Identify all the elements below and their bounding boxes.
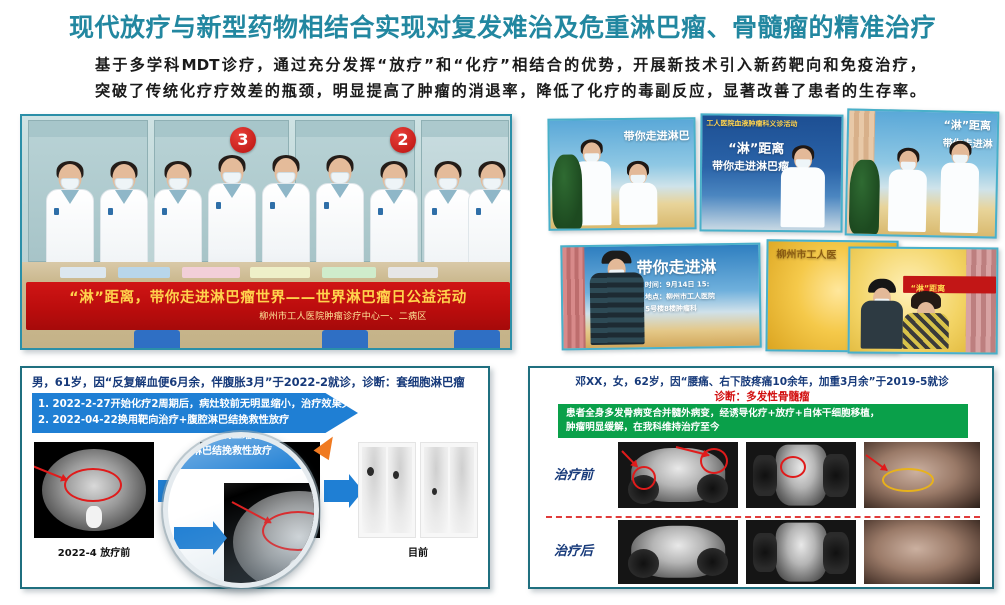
mri-spine-after [746,520,856,584]
patient-signing [902,294,950,352]
case-panel-myeloma: 邓XX，女，62岁，因“腰痛、右下肢疼痛10余年，加重3月余”于2019-5就诊… [528,366,994,589]
photo-backdrop-text: 带你走进淋 [636,253,716,278]
photo-backdrop-header: 工人医院血液肿瘤科义诊活动 [706,118,797,129]
before-after-divider [546,516,980,518]
magnifier-lens: 病灶较前无明显缩小，治疗效 腹腔淋巴结挽救性放疗 2022-6 放疗后 [163,432,319,588]
treatment-step-2: 2. 2022-04-22换用靶向治疗+腹腔淋巴结挽救性放疗 [38,413,358,429]
page-title: 现代放疗与新型药物相结合实现对复发难治及危重淋巴瘤、骨髓瘤的精准治疗 [0,8,1005,44]
case-right-header: 邓XX，女，62岁，因“腰痛、右下肢疼痛10余年，加重3月余”于2019-5就诊 [544,374,980,389]
desk-item [182,267,240,278]
ct-image-before [34,442,154,538]
photo-info-place: 地点：柳州市工人医院 [645,291,715,302]
mri-spine-before [746,442,856,508]
case-left-treatment-steps: 1. 2022-2-27开始化疗2周期后，病灶较前无明显缩小，治疗效果欠佳 2.… [32,393,358,433]
desk-item [322,267,376,278]
patient-signing [860,282,904,352]
label-before-treatment: 治疗前 [554,464,593,483]
photo-info-time: 时间：9月14日 15: [645,279,710,290]
magnified-step-2: 腹腔淋巴结挽救性放疗 [172,444,319,460]
pet-scan-image [420,442,478,538]
stool [454,330,500,348]
magnified-transition-arrow [174,527,214,549]
mri-abdomen-after [864,520,980,584]
desk-item [60,267,106,278]
group-photo: 3 2 “淋”距离，带你走进淋巴瘤世界——世界淋巴瘤日公益活动 柳州市工人医院肿… [20,114,512,350]
caption-now: 目前 [358,544,478,559]
photo-backdrop-text: “淋”距离 [728,138,784,157]
mri-pelvis-before [618,442,738,508]
lesion-marker-highlight [882,468,934,492]
magnified-content: 病灶较前无明显缩小，治疗效 腹腔淋巴结挽救性放疗 2022-6 放疗后 [163,432,319,588]
activity-photo-nurse-examining-patient: 带你走进淋巴 [547,117,696,231]
magnified-ct-image [224,483,319,588]
case-right-summary: 患者全身多发骨病变合并髓外病变，经诱导化疗+放疗+自体干细胞移植， 肿瘤明显缓解… [558,404,968,438]
case-right-diagnosis: 诊断：多发性骨髓瘤 [544,389,980,404]
desk-item [388,267,438,278]
summary-line-1: 患者全身多发骨病变合并髓外病变，经诱导化疗+放疗+自体干细胞移植， [566,407,968,421]
potted-plant [552,154,583,228]
desk-item [118,267,170,278]
mri-pelvis-after [618,520,738,584]
caption-before: 2022-4 放疗前 [34,544,154,559]
activity-photo-patient-signing-wall: 带你走进淋 时间：9月14日 15: 地点：柳州市工人医院 5号楼8楼肿瘤科 [560,243,761,351]
transition-arrow [324,480,350,502]
activity-photo-two-nurses-exercise-demo: “淋”距离 带你走进淋 [845,108,1000,238]
group-photo-scene: 3 2 “淋”距离，带你走进淋巴瘤世界——世界淋巴瘤日公益活动 柳州市工人医院肿… [22,116,510,348]
case-left-header: 男，61岁，因“反复解血便6月余，伴腹胀3月”于2022-2就诊，诊断：套细胞淋… [32,374,482,390]
page-subtitle: 基于多学科MDT诊疗，通过充分发挥“放疗”和“化疗”相结合的优势，开展新技术引入… [95,52,925,104]
subtitle-line-1: 基于多学科MDT诊疗，通过充分发挥“放疗”和“化疗”相结合的优势，开展新技术引入… [95,52,925,78]
event-banner-title: “淋”距离，带你走进淋巴瘤世界——世界淋巴瘤日公益活动 [26,286,510,307]
subtitle-line-2: 突破了传统化疗疗效差的瓶颈，明显提高了肿瘤的消退率，降低了化疗的毒副反应，显著改… [95,78,925,104]
photo-backdrop-text: 带你走进淋巴 [624,127,690,144]
photo-number-badge-2: 2 [390,127,416,153]
photo-info-floor: 5号楼8楼肿瘤科 [645,304,697,315]
photo-backdrop-text: “淋”距离 [943,116,991,133]
potted-plant [849,159,881,234]
event-banner-subtitle: 柳州市工人医院肿瘤诊疗中心一、二病区 [26,309,510,322]
label-after-treatment: 治疗后 [554,540,593,559]
event-banner: “淋”距离，带你走进淋巴瘤世界——世界淋巴瘤日公益活动 柳州市工人医院肿瘤诊疗中… [26,282,510,330]
nurse [887,150,929,235]
mri-abdomen-before [864,442,980,508]
stool [134,330,180,348]
lesion-marker [780,456,806,478]
patient [618,164,659,228]
treatment-step-1: 1. 2022-2-27开始化疗2周期后，病灶较前无明显缩小，治疗效果欠佳 [38,397,358,413]
pet-scan-image [358,442,416,538]
activity-photo-doctor-at-event-backdrop: 工人医院血液肿瘤科义诊活动 “淋”距离 带你走进淋巴瘤 [699,113,843,232]
event-banner-strip: “淋”距离 [903,276,997,294]
summary-line-2: 肿瘤明显缓解，在我科维持治疗至今 [566,421,968,435]
nurse [939,143,981,236]
activity-photo-patients-signing-board: “淋”距离 [848,246,999,354]
patient-signing [588,253,645,348]
curtain [966,249,997,352]
poster-root: 现代放疗与新型药物相结合实现对复发难治及危重淋巴瘤、骨髓瘤的精准治疗 基于多学科… [0,0,1005,605]
photo-backdrop-text-2: 带你走进淋巴瘤 [712,157,789,174]
stool [322,330,368,348]
annotation-arrow [621,450,638,467]
desk-item [250,267,310,278]
photo-number-badge-3: 3 [230,127,256,153]
doctor [780,148,827,230]
curtain [562,247,585,348]
photo-backdrop-text: 柳州市工人医 [776,245,836,261]
